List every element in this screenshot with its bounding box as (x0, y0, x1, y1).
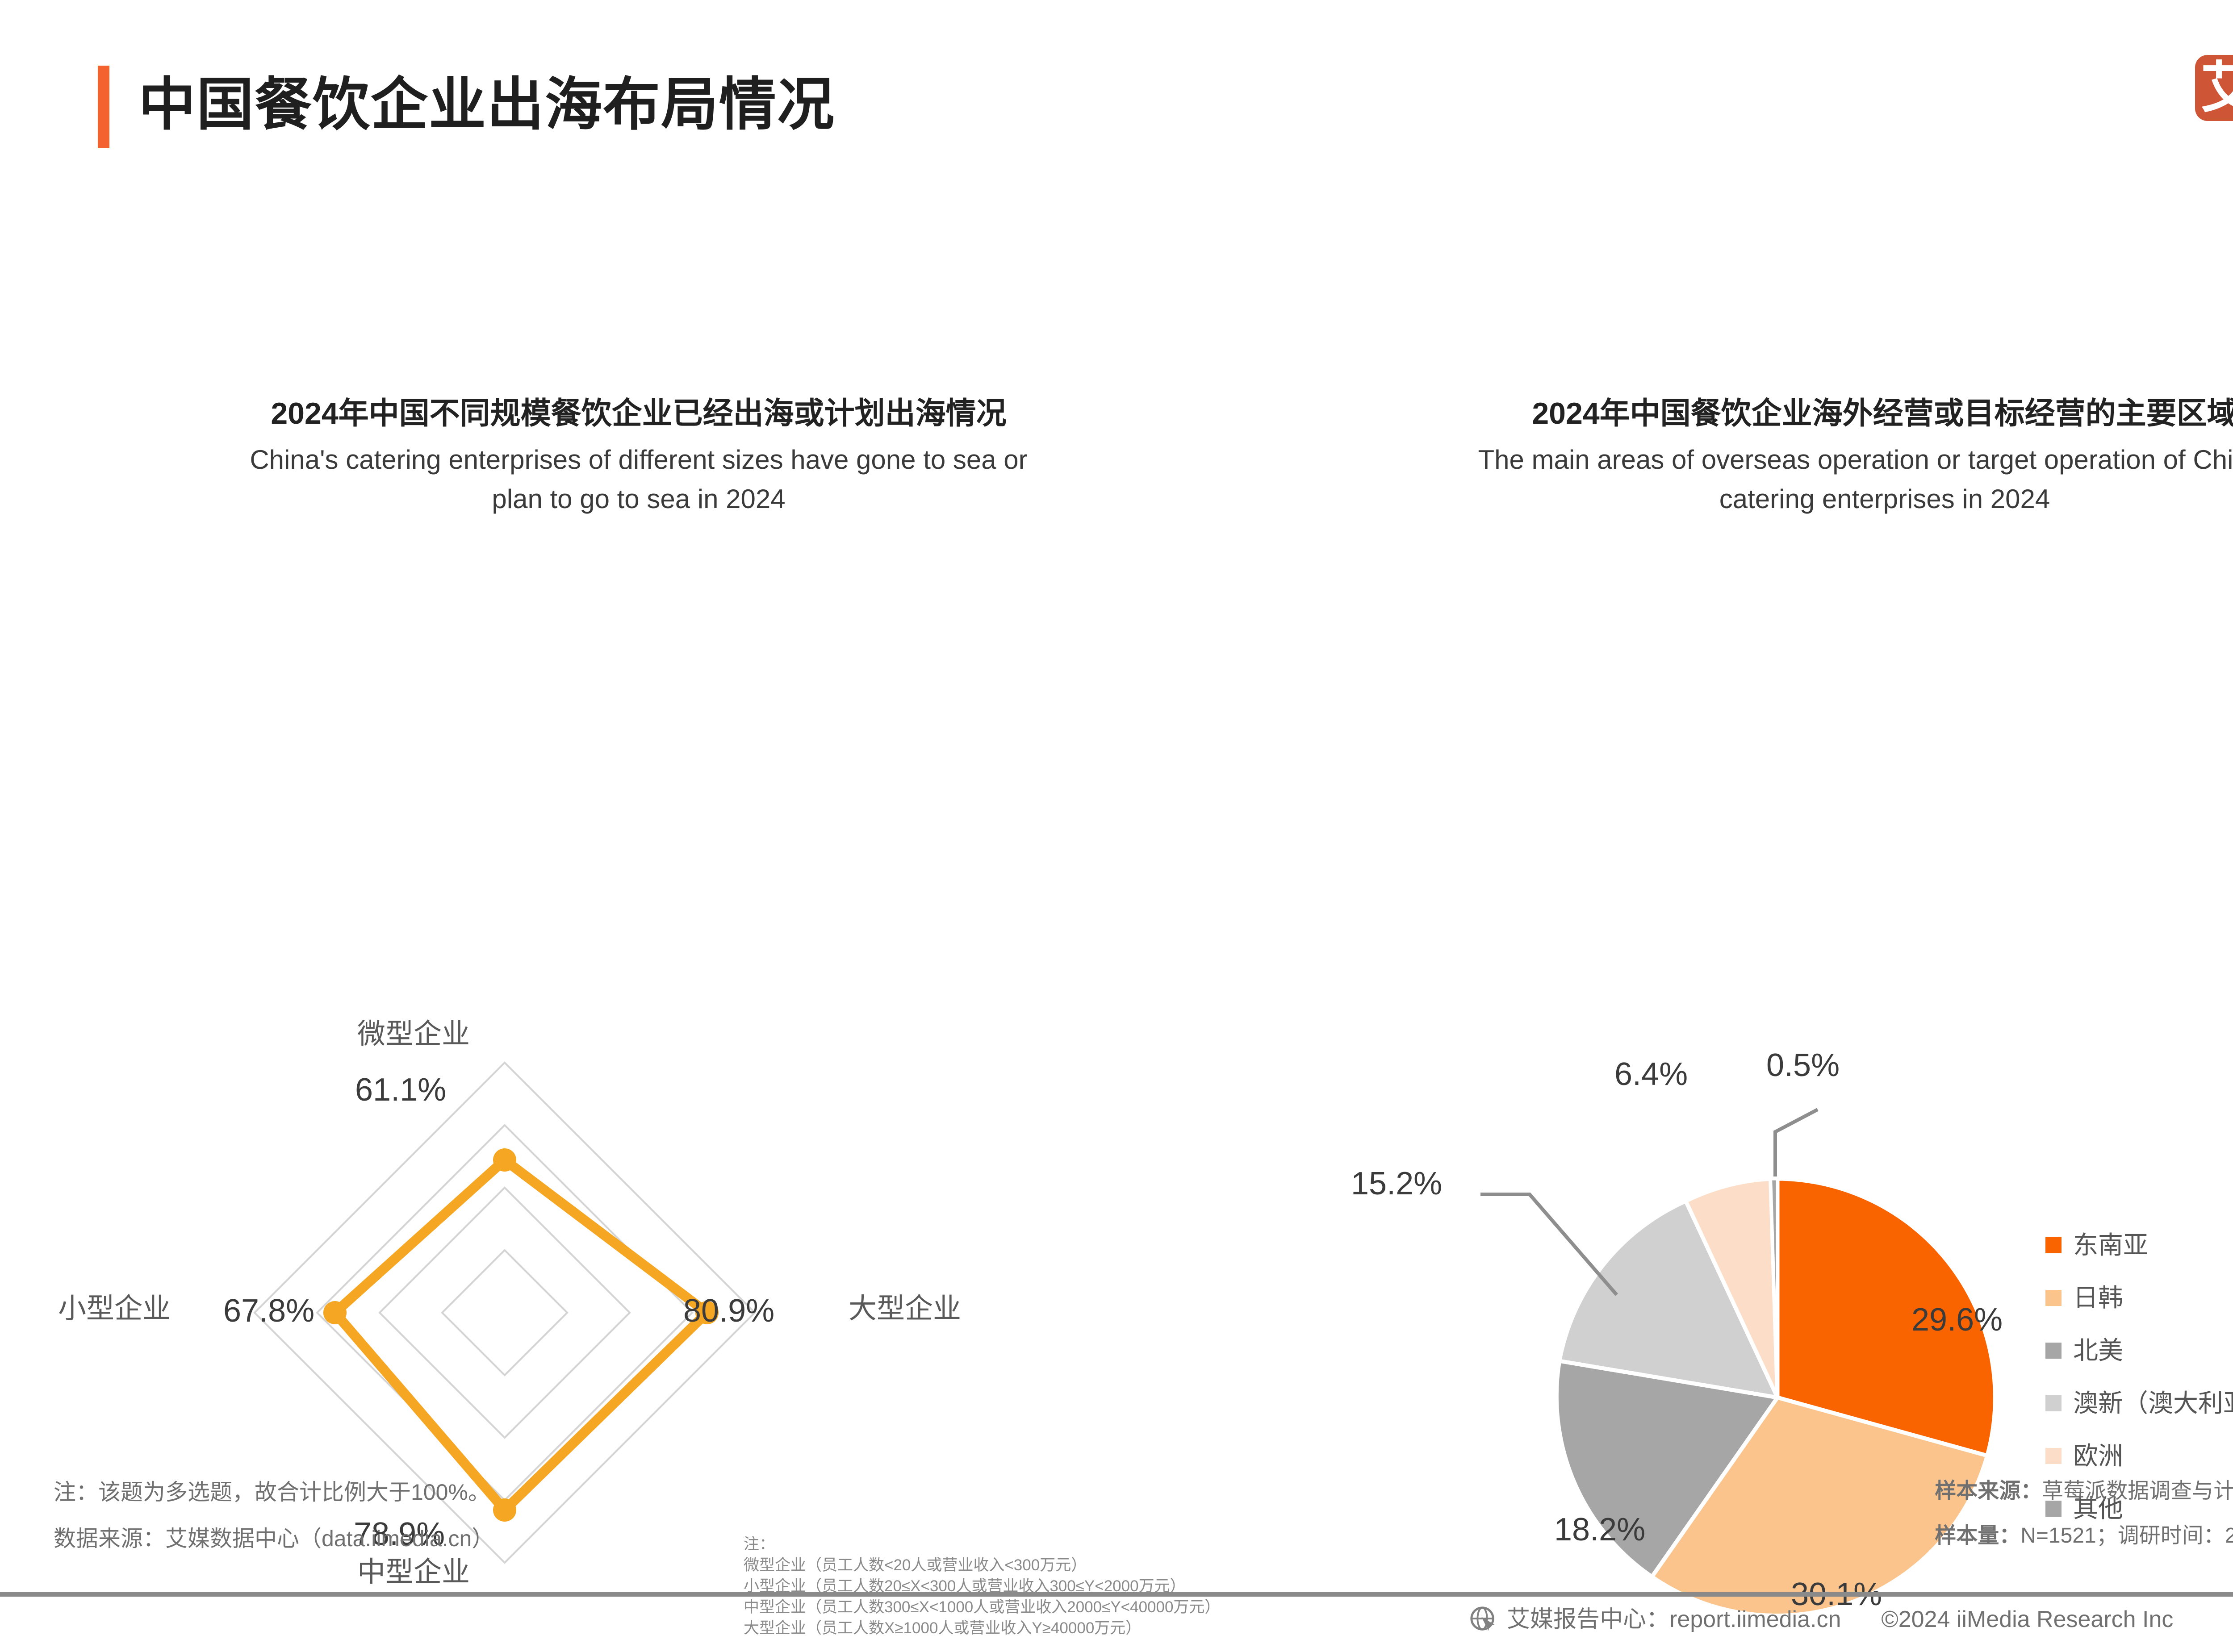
footer-sample-source: 样本来源：草莓派数据调查与计算系统（Strawberry Pie） (1935, 1469, 2233, 1514)
footer-divider (0, 1592, 2233, 1597)
right-chart-title-cn: 2024年中国餐饮企业海外经营或目标经营的主要区域 (1286, 393, 2233, 434)
legend-item-southeast-asia[interactable]: 东南亚 (2045, 1219, 2233, 1272)
legend-label: 北美 (2073, 1336, 2123, 1365)
copyright-text: ©2024 iiMedia Research Inc (1881, 1606, 2173, 1633)
left-chart-panel: 2024年中国不同规模餐饮企业已经出海或计划出海情况 China's cater… (54, 393, 1224, 519)
legend-swatch-icon (2045, 1448, 2062, 1464)
footer-note: 注：该题为多选题，故合计比例大于100%。 (54, 1469, 494, 1515)
radar-axis-label-micro: 微型企业 (357, 1018, 470, 1050)
page-title: 中国餐饮企业出海布局情况 (138, 63, 835, 147)
footer-sample-size-label: 样本量： (1935, 1524, 2020, 1548)
radar-note-title: 注： (744, 1534, 1220, 1555)
right-chart-title-en-line1: The main areas of overseas operation or … (1286, 440, 2233, 480)
radar-axis-label-small: 小型企业 (58, 1293, 171, 1325)
legend-swatch-icon (2045, 1343, 2062, 1359)
legend-item-australia-newzealand[interactable]: 澳新（澳大利亚和新西兰） (2045, 1377, 2233, 1430)
footer-left: 注：该题为多选题，故合计比例大于100%。 数据来源：艾媒数据中心（data.i… (54, 1469, 494, 1562)
page-header: 中国餐饮企业出海布局情况 艾 艾媒咨询 iiMedia Research (0, 0, 2233, 192)
globe-cursor-icon (1469, 1606, 1497, 1633)
footer-right: 样本来源：草莓派数据调查与计算系统（Strawberry Pie） 样本量：N=… (1935, 1469, 2233, 1558)
legend-swatch-icon (2045, 1237, 2062, 1253)
radar-note-line-1: 微型企业（员工人数<20人或营业收入<300万元） (744, 1555, 1220, 1576)
footer-data-source: 数据来源：艾媒数据中心（data.iimedia.cn） (54, 1515, 494, 1562)
radar-note-line-3: 中型企业（员工人数300≤X<1000人或营业收入2000≤Y<40000万元） (744, 1597, 1220, 1618)
legend-label: 日韩 (2073, 1284, 2123, 1312)
radar-axis-label-large: 大型企业 (849, 1293, 961, 1325)
left-chart-title-en-line2: plan to go to sea in 2024 (54, 480, 1224, 519)
pie-chart-svg (1304, 1027, 2153, 1652)
left-chart-title-cn: 2024年中国不同规模餐饮企业已经出海或计划出海情况 (54, 393, 1224, 434)
footer-sample-size-value: N=1521；调研时间：2024年3月 (2020, 1524, 2233, 1548)
pie-value-others: 0.5% (1766, 1047, 1840, 1084)
footer-sample-size: 样本量：N=1521；调研时间：2024年3月 (1935, 1514, 2233, 1558)
leader-line-0-5 (1775, 1110, 1818, 1176)
legend-label: 澳新（澳大利亚和新西兰） (2073, 1389, 2233, 1418)
legend-item-japan-korea[interactable]: 日韩 (2045, 1272, 2233, 1324)
pie-value-southeast-asia: 29.6% (1911, 1302, 2003, 1338)
legend-swatch-icon (2045, 1290, 2062, 1306)
pie-value-australia-newzealand: 15.2% (1351, 1165, 1442, 1202)
radar-definition-note: 注： 微型企业（员工人数<20人或营业收入<300万元） 小型企业（员工人数20… (744, 1534, 1220, 1639)
legend-label: 欧洲 (2073, 1442, 2123, 1470)
left-chart-title-en-line1: China's catering enterprises of differen… (54, 440, 1224, 480)
right-chart-title-en-line2: catering enterprises in 2024 (1286, 480, 2233, 519)
right-chart-panel: 2024年中国餐饮企业海外经营或目标经营的主要区域 The main areas… (1286, 393, 2233, 519)
pie-value-north-america: 18.2% (1554, 1511, 1645, 1548)
legend-label: 东南亚 (2073, 1231, 2148, 1260)
footer-sample-source-label: 样本来源： (1935, 1479, 2042, 1503)
radar-value-large: 80.9% (683, 1293, 774, 1329)
footer-bottom-bar: 艾媒报告中心：report.iimedia.cn ©2024 iiMedia R… (1469, 1606, 2173, 1633)
brand-logo: 艾 艾媒咨询 iiMedia Research (2195, 49, 2233, 127)
footer-sample-source-value: 草莓派数据调查与计算系统（Strawberry Pie） (2042, 1479, 2233, 1503)
radar-note-line-4: 大型企业（员工人数X≥1000人或营业收入Y≥40000万元） (744, 1618, 1220, 1639)
radar-value-micro: 61.1% (355, 1072, 446, 1108)
legend-item-north-america[interactable]: 北美 (2045, 1324, 2233, 1377)
logo-mark-glyph: 艾 (2195, 55, 2233, 121)
legend-swatch-icon (2045, 1395, 2062, 1411)
report-center-link[interactable]: 艾媒报告中心：report.iimedia.cn (1507, 1606, 1841, 1633)
radar-value-small: 67.8% (223, 1293, 314, 1329)
pie-value-europe: 6.4% (1614, 1056, 1688, 1093)
logo-mark-icon: 艾 (2195, 55, 2233, 121)
title-accent-bar (98, 66, 109, 148)
